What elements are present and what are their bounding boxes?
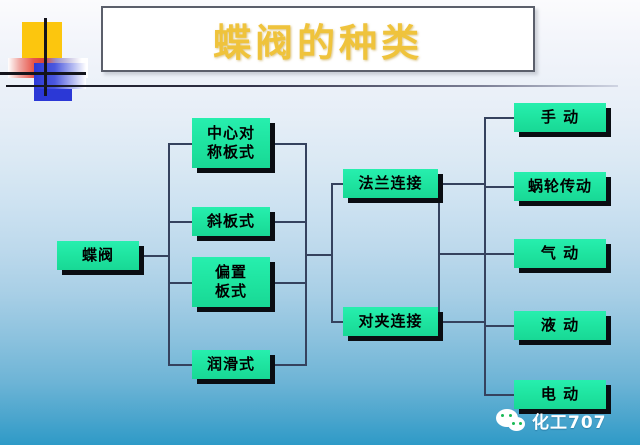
node-flange-connection[interactable]: 法兰连接 bbox=[343, 169, 438, 198]
node-wafer-connection[interactable]: 对夹连接 bbox=[343, 307, 438, 336]
connector-col2-out-2 bbox=[270, 221, 306, 223]
node-root[interactable]: 蝶阀 bbox=[57, 241, 139, 270]
node-pneumatic[interactable]: 气 动 bbox=[514, 239, 606, 268]
connector-col4-branch-5 bbox=[484, 394, 514, 396]
connector-merge-to-col3 bbox=[305, 254, 332, 256]
connector-col2-branch-1 bbox=[168, 143, 192, 145]
node-inclined-plate[interactable]: 斜板式 bbox=[192, 207, 270, 236]
slide-canvas: 蝶阀的种类 蝶阀 中心对 称板式 斜板式 偏置 板式 bbox=[0, 0, 640, 445]
header-rule bbox=[6, 85, 618, 87]
node-electric[interactable]: 电 动 bbox=[514, 380, 606, 409]
connector-col4-trunk bbox=[484, 117, 486, 394]
node-manual[interactable]: 手 动 bbox=[514, 103, 606, 132]
watermark-text: 化工707 bbox=[532, 408, 607, 433]
node-center-symmetric-plate[interactable]: 中心对 称板式 bbox=[192, 118, 270, 168]
connector-col3-branch-1 bbox=[331, 183, 343, 185]
connector-col2-out-1 bbox=[270, 143, 306, 145]
logo-horizontal-line bbox=[0, 72, 86, 75]
connector-col3-merge-out bbox=[438, 253, 485, 255]
connector-col2-branch-3 bbox=[168, 282, 192, 284]
connector-root-stem bbox=[139, 255, 170, 257]
node-lubricated[interactable]: 润滑式 bbox=[192, 350, 270, 379]
connector-col4-branch-1 bbox=[484, 117, 514, 119]
node-offset-plate[interactable]: 偏置 板式 bbox=[192, 257, 270, 307]
node-hydraulic[interactable]: 液 动 bbox=[514, 311, 606, 340]
logo-yellow-square bbox=[22, 22, 62, 62]
connector-col3-branch-2 bbox=[331, 321, 343, 323]
connector-col3-out-2 bbox=[438, 321, 484, 323]
connector-col3-trunk bbox=[331, 183, 333, 322]
connector-col4-branch-3 bbox=[484, 253, 514, 255]
title-frame: 蝶阀的种类 bbox=[101, 6, 535, 72]
connector-col2-branch-2 bbox=[168, 221, 192, 223]
connector-col3-out-1 bbox=[438, 183, 484, 185]
node-label: 中心对 称板式 bbox=[207, 124, 255, 162]
node-worm-gear-drive[interactable]: 蜗轮传动 bbox=[514, 172, 606, 201]
node-label: 偏置 板式 bbox=[215, 263, 247, 301]
connector-col4-branch-4 bbox=[484, 325, 514, 327]
connector-col2-out-3 bbox=[270, 282, 306, 284]
connector-col2-trunk bbox=[168, 143, 170, 365]
connector-col2-branch-4 bbox=[168, 364, 192, 366]
page-title: 蝶阀的种类 bbox=[103, 8, 533, 70]
connector-col2-out-4 bbox=[270, 364, 306, 366]
wechat-icon bbox=[496, 409, 526, 433]
connector-col4-branch-2 bbox=[484, 186, 514, 188]
watermark: 化工707 bbox=[496, 408, 607, 433]
